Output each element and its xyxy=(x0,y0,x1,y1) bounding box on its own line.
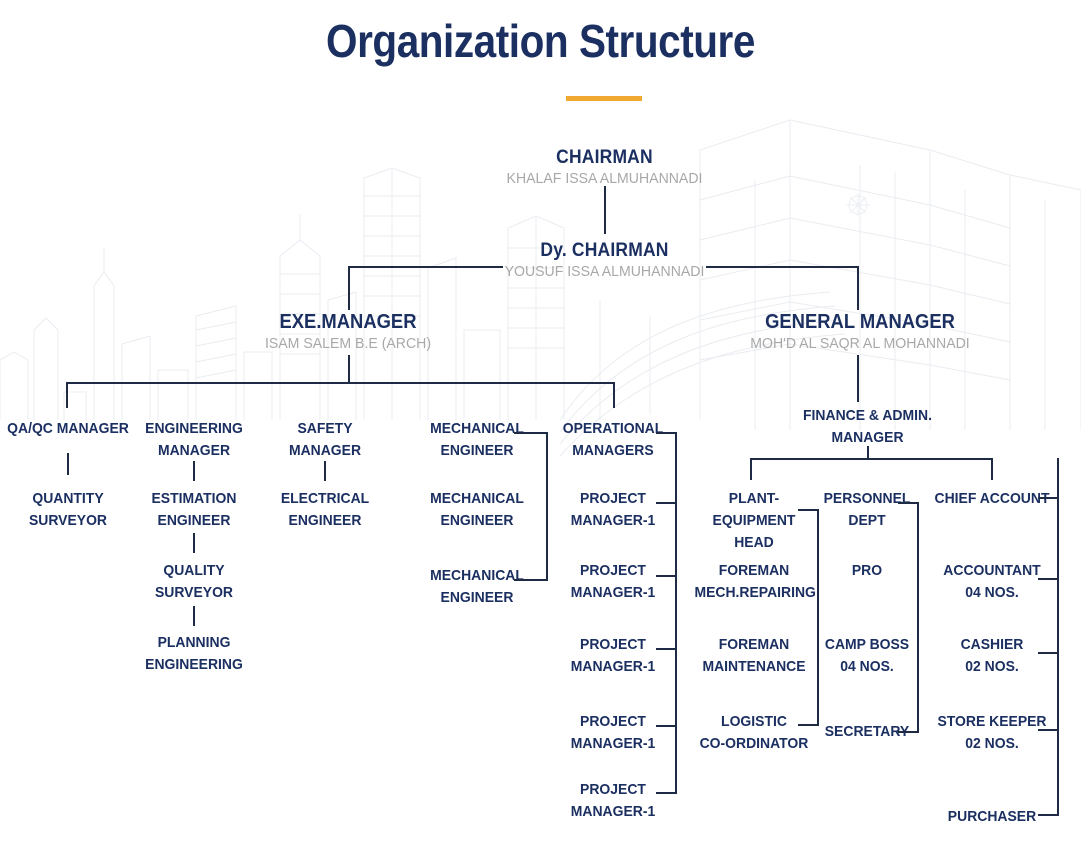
node-chairman[interactable]: CHAIRMAN KHALAF ISSA ALMUHANNADI xyxy=(434,147,775,188)
connector-accounts-tick-2 xyxy=(1038,652,1059,654)
connector-plant-bracket-spine xyxy=(817,509,819,725)
exe-manager-role: EXE.MANAGER xyxy=(219,311,477,334)
node-personnel-dept[interactable]: PERSONNEL DEPT xyxy=(823,488,910,532)
connector-finance-stem xyxy=(867,446,869,458)
node-exe-manager[interactable]: EXE.MANAGER ISAM SALEM B.E (ARCH) xyxy=(208,311,488,353)
connector-general-manager-stem xyxy=(857,355,859,402)
node-project-manager-2[interactable]: PROJECT MANAGER-1 xyxy=(553,560,672,604)
node-project-manager-5[interactable]: PROJECT MANAGER-1 xyxy=(553,779,672,823)
connector-personnel-bracket-spine xyxy=(917,502,919,732)
connector-pm-bracket-bottom xyxy=(656,792,677,794)
connector-qa-qc-to-quantity-surveyor xyxy=(67,453,69,475)
node-foreman-maintenance[interactable]: FOREMAN MAINTENANCE xyxy=(694,634,813,678)
general-manager-person: MOH'D AL SAQR AL MOHANNADI xyxy=(728,335,991,353)
dy-chairman-role: Dy. CHAIRMAN xyxy=(448,240,762,262)
node-safety-manager[interactable]: SAFETY MANAGER xyxy=(265,418,384,462)
connector-plant-bracket-top xyxy=(798,509,819,511)
connector-drop-operational xyxy=(613,382,615,408)
connector-personnel-bracket-top xyxy=(898,502,919,504)
connector-chairman-to-dy-chairman xyxy=(604,186,606,234)
connector-dy-chairman-bar-left xyxy=(348,266,503,268)
node-purchaser[interactable]: PURCHASER xyxy=(934,806,1049,828)
connector-dy-chairman-bar-right xyxy=(706,266,858,268)
connector-mech-bracket-spine xyxy=(546,432,548,580)
node-store-keeper[interactable]: STORE KEEPER 02 NOS. xyxy=(934,711,1049,755)
connector-pm-tick-2 xyxy=(656,575,677,577)
page-title: Organization Structure xyxy=(65,14,1016,68)
node-planning-engineering[interactable]: PLANNING ENGINEERING xyxy=(134,632,253,676)
connector-exe-manager-stem xyxy=(348,355,350,382)
node-mechanical-engineer-1[interactable]: MECHANICAL ENGINEER xyxy=(417,418,536,462)
connector-accounts-bracket-bottom xyxy=(1038,814,1059,816)
node-logistic-coordinator[interactable]: LOGISTIC CO-ORDINATOR xyxy=(694,711,813,755)
node-mechanical-engineer-3[interactable]: MECHANICAL ENGINEER xyxy=(417,565,536,609)
node-camp-boss[interactable]: CAMP BOSS 04 NOS. xyxy=(823,634,910,678)
connector-exe-manager-bar xyxy=(66,382,614,384)
node-plant-equipment-head[interactable]: PLANT-EQUIPMENT HEAD xyxy=(694,488,813,553)
connector-pm-bracket-top xyxy=(656,432,677,434)
node-finance-admin-manager[interactable]: FINANCE & ADMIN. MANAGER xyxy=(795,405,939,449)
connector-engineering-to-estimation xyxy=(193,461,195,481)
node-chief-account[interactable]: CHIEF ACCOUNT xyxy=(934,488,1049,510)
connector-estimation-to-quality xyxy=(193,533,195,553)
title-underline-accent xyxy=(566,96,642,101)
node-engineering-manager[interactable]: ENGINEERING MANAGER xyxy=(134,418,253,462)
node-quantity-surveyor[interactable]: QUANTITY SURVEYOR xyxy=(5,488,131,532)
exe-manager-person: ISAM SALEM B.E (ARCH) xyxy=(216,335,479,353)
connector-plant-bracket-bottom xyxy=(798,724,819,726)
node-project-manager-4[interactable]: PROJECT MANAGER-1 xyxy=(553,711,672,755)
connector-pm-tick-3 xyxy=(656,648,677,650)
chairman-role: CHAIRMAN xyxy=(448,147,762,169)
connector-drop-qa-qc xyxy=(66,382,68,408)
connector-accounts-tick-3 xyxy=(1038,729,1059,731)
connector-quality-to-planning xyxy=(193,606,195,626)
connector-mech-bracket-top xyxy=(514,432,548,434)
node-project-manager-1[interactable]: PROJECT MANAGER-1 xyxy=(553,488,672,532)
organization-chart: Organization Structure CHAIRMAN KHALAF I… xyxy=(0,0,1081,851)
connector-personnel-bracket-bottom xyxy=(898,731,919,733)
connector-pm-tick-4 xyxy=(656,725,677,727)
node-electrical-engineer[interactable]: ELECTRICAL ENGINEER xyxy=(265,488,384,532)
connector-pm-bracket-spine xyxy=(675,432,677,793)
connector-drop-chief-account xyxy=(991,458,993,480)
connector-pm-tick-1 xyxy=(656,502,677,504)
general-manager-role: GENERAL MANAGER xyxy=(731,311,989,334)
connector-drop-general-manager xyxy=(857,266,859,310)
connector-safety-to-electrical xyxy=(324,461,326,481)
node-estimation-engineer[interactable]: ESTIMATION ENGINEER xyxy=(134,488,253,532)
node-project-manager-3[interactable]: PROJECT MANAGER-1 xyxy=(553,634,672,678)
connector-drop-plant-equipment xyxy=(750,458,752,480)
connector-accounts-tick-1 xyxy=(1038,578,1059,580)
node-foreman-mech-repairing[interactable]: FOREMAN MECH.REPAIRING xyxy=(694,560,813,604)
connector-accounts-bracket-top xyxy=(1038,497,1059,499)
node-operational-managers[interactable]: OPERATIONAL MANAGERS xyxy=(553,418,672,462)
node-quality-surveyor[interactable]: QUALITY SURVEYOR xyxy=(134,560,253,604)
node-mechanical-engineer-2[interactable]: MECHANICAL ENGINEER xyxy=(417,488,536,532)
connector-mech-bracket-bottom xyxy=(514,579,548,581)
node-dy-chairman[interactable]: Dy. CHAIRMAN YOUSUF ISSA ALMUHANNADI xyxy=(434,240,775,281)
connector-finance-bar xyxy=(750,458,992,460)
node-cashier[interactable]: CASHIER 02 NOS. xyxy=(934,634,1049,678)
node-accountant[interactable]: ACCOUNTANT 04 NOS. xyxy=(934,560,1049,604)
node-general-manager[interactable]: GENERAL MANAGER MOH'D AL SAQR AL MOHANNA… xyxy=(720,311,1000,353)
connector-accounts-bracket-spine xyxy=(1057,458,1059,814)
connector-drop-exe-manager xyxy=(348,266,350,310)
node-pro[interactable]: PRO xyxy=(823,560,910,582)
node-qa-qc-manager[interactable]: QA/QC MANAGER xyxy=(5,418,131,440)
